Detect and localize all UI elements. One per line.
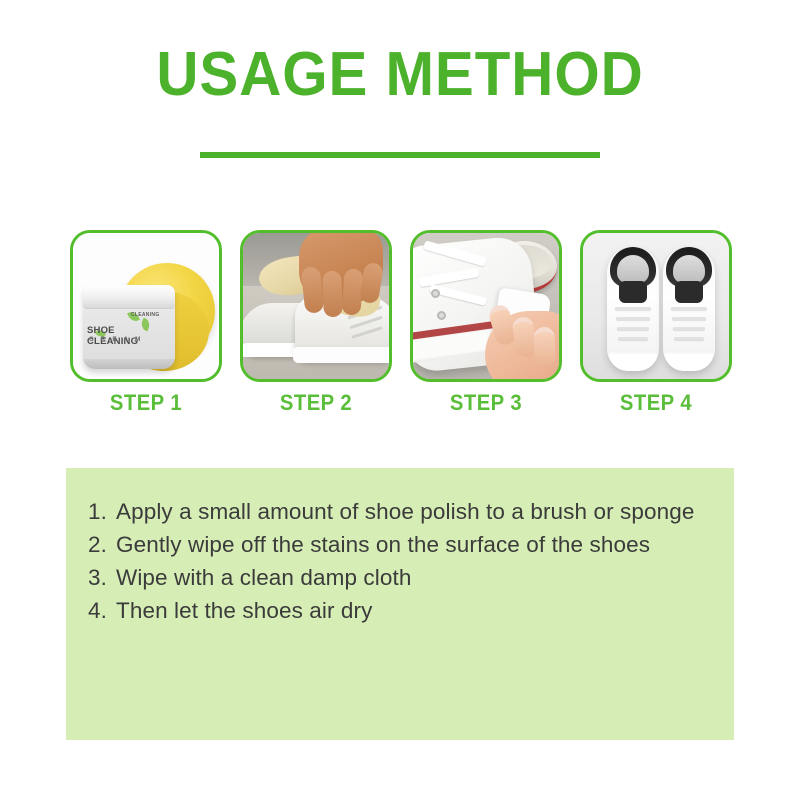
cream-jar-icon: CLEANING SHOE CLEANING C R E A M bbox=[83, 285, 175, 369]
step-image-2 bbox=[240, 230, 392, 382]
step-caption-2: STEP 2 bbox=[246, 390, 386, 416]
finger bbox=[322, 271, 343, 318]
list-item-text: Wipe with a clean damp cloth bbox=[116, 562, 716, 593]
shoelace bbox=[672, 317, 706, 320]
finger bbox=[533, 327, 555, 368]
list-item-text: Then let the shoes air dry bbox=[116, 595, 716, 626]
shoelace bbox=[673, 327, 705, 330]
list-item: 3. Wipe with a clean damp cloth bbox=[88, 562, 716, 593]
shoe-tongue bbox=[675, 281, 703, 303]
step-cell-1: CLEANING SHOE CLEANING C R E A M STEP 1 bbox=[70, 230, 222, 382]
shoelace bbox=[618, 337, 648, 340]
insole bbox=[673, 255, 705, 283]
list-item: 2. Gently wipe off the stains on the sur… bbox=[88, 529, 716, 560]
list-item-text: Gently wipe off the stains on the surfac… bbox=[116, 529, 716, 560]
step-caption-4: STEP 4 bbox=[586, 390, 726, 416]
instructions-panel: 1. Apply a small amount of shoe polish t… bbox=[66, 468, 734, 740]
step-image-1: CLEANING SHOE CLEANING C R E A M bbox=[70, 230, 222, 382]
insole bbox=[617, 255, 649, 283]
shoelace bbox=[617, 327, 649, 330]
lace-eyelet bbox=[431, 289, 440, 298]
step-cell-2: STEP 2 bbox=[240, 230, 392, 382]
instructions-list: 1. Apply a small amount of shoe polish t… bbox=[88, 496, 716, 628]
step-caption-1: STEP 1 bbox=[76, 390, 216, 416]
shoe-cream-jar-illustration: CLEANING SHOE CLEANING C R E A M bbox=[73, 233, 219, 379]
sneaker-right-sole bbox=[293, 347, 392, 363]
steps-row: CLEANING SHOE CLEANING C R E A M STEP 1 bbox=[70, 230, 732, 382]
page-title: USAGE METHOD bbox=[24, 44, 776, 106]
step-caption-3: STEP 3 bbox=[416, 390, 556, 416]
step-cell-4: STEP 4 bbox=[580, 230, 732, 382]
shoelace bbox=[674, 337, 704, 340]
list-item-number: 4. bbox=[88, 595, 116, 626]
list-item: 1. Apply a small amount of shoe polish t… bbox=[88, 496, 716, 527]
jar-brand-label: CLEANING bbox=[131, 312, 160, 318]
sneaker-right-icon bbox=[663, 247, 715, 371]
wiping-canvas-shoe-illustration bbox=[413, 233, 559, 379]
shoe-tongue bbox=[619, 281, 647, 303]
shoelace bbox=[615, 307, 651, 310]
list-item-number: 2. bbox=[88, 529, 116, 560]
list-item: 4. Then let the shoes air dry bbox=[88, 595, 716, 626]
jar-base-shadow bbox=[83, 359, 175, 369]
list-item-number: 3. bbox=[88, 562, 116, 593]
lace-eyelet bbox=[437, 311, 446, 320]
list-item-number: 1. bbox=[88, 496, 116, 527]
shoelace bbox=[671, 307, 707, 310]
step-image-4 bbox=[580, 230, 732, 382]
shoelace bbox=[616, 317, 650, 320]
clean-sneakers-pair-illustration bbox=[583, 233, 729, 379]
step-image-3 bbox=[410, 230, 562, 382]
hand-wiping-shoes-illustration bbox=[243, 233, 389, 379]
title-divider bbox=[200, 152, 600, 158]
jar-product-subtitle: C R E A M bbox=[89, 336, 161, 343]
jar-lid bbox=[83, 285, 175, 309]
sneaker-left-icon bbox=[607, 247, 659, 371]
usage-method-infographic: USAGE METHOD CLEANING SHOE CLEANING bbox=[0, 0, 800, 800]
step-cell-3: STEP 3 bbox=[410, 230, 562, 382]
list-item-text: Apply a small amount of shoe polish to a… bbox=[116, 496, 716, 527]
